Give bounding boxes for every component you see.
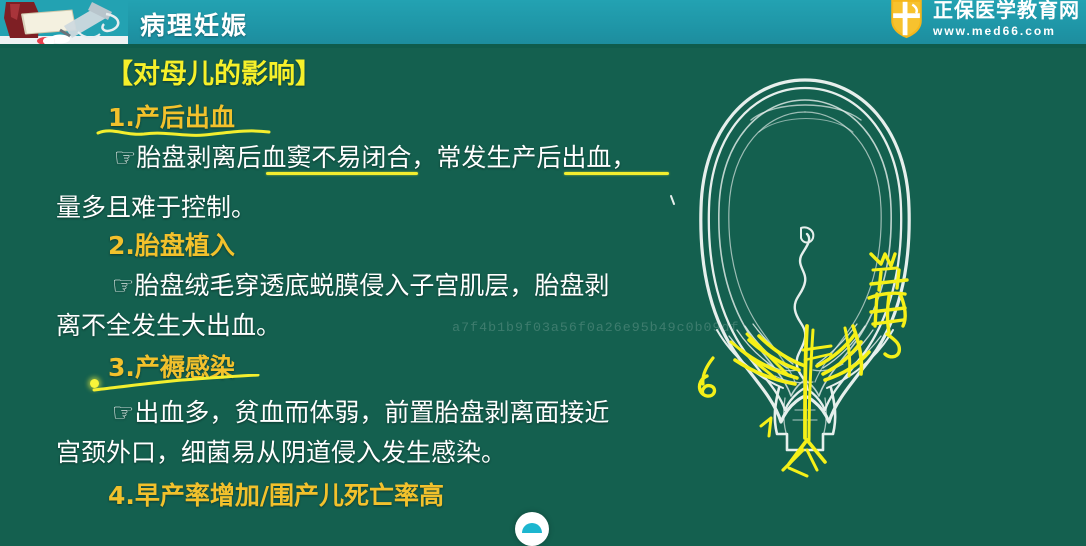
med66-shield-cross-logo: [887, 0, 926, 40]
yellow-underline-4: [90, 374, 268, 394]
brand-name: 正保医学教育网: [933, 1, 1080, 21]
uterus-placenta-previa-chalk-drawing: [655, 58, 955, 488]
page-title: 病理妊娠: [140, 6, 248, 42]
medical-supplies-illustration: [0, 0, 128, 44]
body-line-2b: 离不全发生大出血。: [56, 306, 281, 342]
body-line-1b: 量多且难于控制。: [56, 188, 256, 224]
section-title-2: 2.胎盘植入: [108, 226, 235, 262]
body-line-2a: ☞胎盘绒毛穿透底蜕膜侵入子宫肌层，胎盘剥: [112, 266, 609, 302]
video-player-bubble[interactable]: [515, 512, 549, 546]
slide-heading: 【对母儿的影响】: [106, 52, 322, 91]
brand-logo[interactable]: 正保医学教育网 www.med66.com: [887, 0, 1080, 44]
slide-text-column: 【对母儿的影响】 1.产后出血 ☞胎盘剥离后血窦不易闭合，常发生产后出血， 量多…: [46, 48, 686, 527]
yellow-underline-2: [266, 172, 418, 175]
body-line-3a: ☞出血多，贫血而体弱，前置胎盘剥离面接近: [112, 393, 609, 429]
body-line-3b: 宫颈外口，细菌易从阴道侵入发生感染。: [56, 433, 506, 469]
yellow-pointer-dot: [90, 379, 99, 388]
app-header: 病理妊娠 正保医学教育网 www.med66.com: [0, 0, 1086, 44]
session-watermark: a7f4b1b9f03a56f0a26e95b49c0b09df: [452, 320, 739, 335]
section-title-4: 4.早产率增加/围产儿死亡率高: [108, 476, 444, 512]
brand-url[interactable]: www.med66.com: [933, 25, 1080, 37]
body-line-1a: ☞胎盘剥离后血窦不易闭合，常发生产后出血，: [114, 138, 636, 174]
slide-canvas: 【对母儿的影响】 1.产后出血 ☞胎盘剥离后血窦不易闭合，常发生产后出血， 量多…: [0, 48, 1086, 527]
yellow-underline-3: [564, 172, 669, 175]
